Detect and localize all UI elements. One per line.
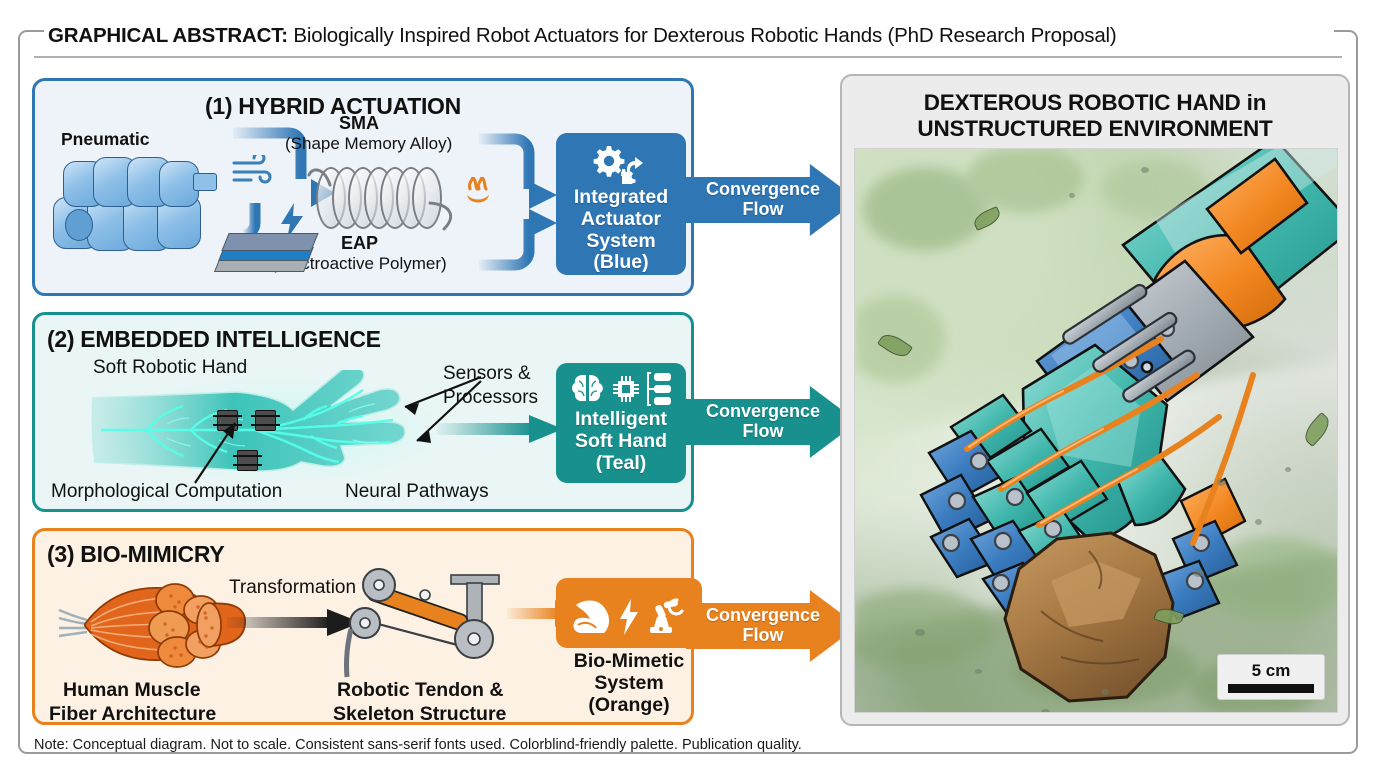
chip-1-icons: [591, 142, 651, 184]
robotic-hand-illustration: [855, 149, 1338, 713]
convergence-1-line1: Convergence: [706, 180, 820, 200]
chip-1-line2: Actuator: [581, 209, 661, 231]
label-sma-full: (Shape Memory Alloy): [285, 134, 452, 154]
chip-3-caption: Bio-Mimetic System (Orange): [540, 650, 718, 717]
showcase-title-line1: DEXTEROUS ROBOTIC HAND in: [842, 90, 1348, 116]
debris-speck: [1255, 519, 1262, 525]
page-title: GRAPHICAL ABSTRACT: Biologically Inspire…: [48, 24, 1334, 48]
debris-speck: [1193, 569, 1204, 577]
chip-2-line1: Intelligent: [575, 409, 667, 431]
showcase-title-line2: UNSTRUCTURED ENVIRONMENT: [842, 116, 1348, 142]
scale-bar: 5 cm: [1217, 654, 1325, 700]
convergence-2-line1: Convergence: [706, 402, 820, 422]
label-robotic-tendon-1: Robotic Tendon &: [337, 679, 503, 702]
label-eap: EAP: [341, 233, 378, 254]
convergence-2-line2: Flow: [706, 422, 820, 442]
convergence-3-line1: Convergence: [706, 606, 820, 626]
label-pneumatic: Pneumatic: [61, 129, 150, 150]
title-divider: [34, 56, 1342, 58]
debris-speck: [1041, 709, 1050, 713]
page-title-label: GRAPHICAL ABSTRACT:: [48, 24, 288, 47]
chip-2-line3: (Teal): [596, 453, 647, 475]
panel-3-title: (3) BIO-MIMICRY: [47, 541, 224, 568]
chip-intelligent-soft-hand[interactable]: Intelligent Soft Hand (Teal): [556, 363, 686, 483]
lightning-bolt-icon: [619, 599, 639, 635]
debris-speck: [1141, 167, 1149, 173]
chip-2-icons: [570, 372, 672, 406]
callout-arrow-morphological: [187, 413, 249, 485]
microchip-icon-2: [255, 410, 276, 431]
label-processors: Processors: [443, 387, 538, 409]
label-morphological-computation: Morphological Computation: [51, 481, 282, 503]
microchip-icon: [611, 374, 641, 404]
sma-coil-illustration: [310, 163, 470, 233]
debris-speck: [1101, 689, 1109, 695]
chip-3-icons: [570, 597, 688, 637]
chip-3-line1: Bio-Mimetic: [540, 650, 718, 672]
robotic-tendon-skeleton-illustration: [335, 561, 535, 681]
showcase-title: DEXTEROUS ROBOTIC HAND in UNSTRUCTURED E…: [842, 90, 1348, 143]
chip-3-line2: System: [540, 672, 718, 694]
chip-3-line3: (Orange): [540, 694, 718, 716]
pneumatic-actuator-illustration: [45, 153, 225, 268]
convergence-3-line2: Flow: [706, 626, 820, 646]
chip-1-line3: System: [586, 231, 655, 253]
gear-icon: [591, 142, 651, 184]
muscle-fiber-illustration: [57, 576, 247, 671]
flow-arrow-to-chip-2: [437, 409, 567, 449]
label-sensors: Sensors &: [443, 363, 531, 385]
robotic-hand-scene: 5 cm: [854, 148, 1338, 713]
eap-sheet-illustration: [213, 221, 323, 283]
showcase-panel: DEXTEROUS ROBOTIC HAND in UNSTRUCTURED E…: [840, 74, 1350, 726]
graphical-abstract-page: GRAPHICAL ABSTRACT: Biologically Inspire…: [0, 0, 1376, 768]
chip-2-line2: Soft Hand: [575, 431, 667, 453]
debris-speck: [1285, 467, 1291, 472]
convergence-arrow-1: Convergence Flow: [686, 164, 858, 236]
label-neural-pathways: Neural Pathways: [345, 481, 489, 503]
convergence-arrow-2: Convergence Flow: [686, 386, 858, 458]
debris-speck: [1217, 479, 1226, 486]
label-sma: SMA: [339, 113, 379, 134]
chip-bio-mimetic-system[interactable]: [556, 578, 702, 648]
panel-1-title: (1) HYBRID ACTUATION: [205, 93, 461, 120]
panel-2-title: (2) EMBEDDED INTELLIGENCE: [47, 326, 381, 353]
debris-speck: [975, 669, 982, 674]
scale-bar-label: 5 cm: [1252, 661, 1291, 681]
label-robotic-tendon-2: Skeleton Structure: [333, 703, 506, 726]
server-stack-icon: [646, 372, 672, 406]
brain-icon: [570, 373, 606, 405]
scale-bar-line: [1228, 684, 1314, 693]
chip-1-line1: Integrated: [574, 187, 668, 209]
footer-note: Note: Conceptual diagram. Not to scale. …: [34, 737, 1234, 753]
robot-arm-icon: [644, 597, 688, 637]
flexed-bicep-icon: [570, 597, 614, 637]
convergence-1-line2: Flow: [706, 200, 820, 220]
debris-speck: [915, 629, 925, 636]
label-human-muscle-1: Human Muscle: [63, 679, 201, 702]
chip-1-line4: (Blue): [593, 252, 648, 274]
page-title-subject: Biologically Inspired Robot Actuators fo…: [288, 24, 1117, 47]
label-human-muscle-2: Fiber Architecture: [49, 703, 216, 726]
chip-integrated-actuator-system[interactable]: Integrated Actuator System (Blue): [556, 133, 686, 275]
debris-speck: [1069, 193, 1075, 198]
